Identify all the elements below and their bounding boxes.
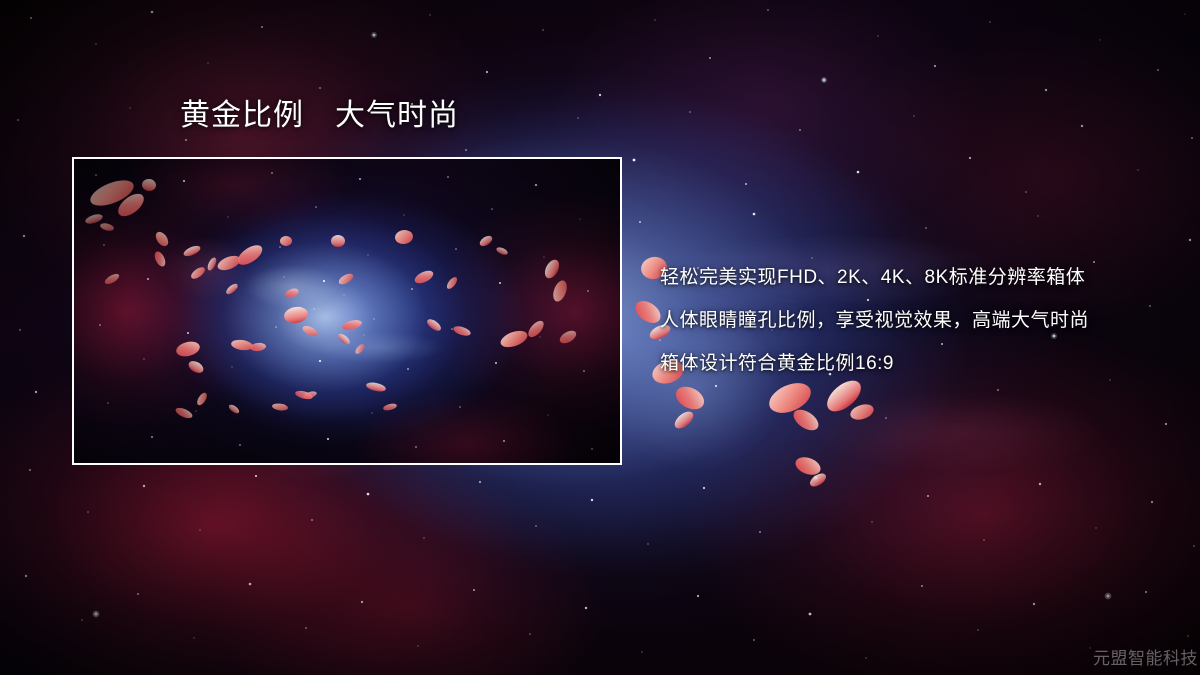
body-line-2: 人体眼睛瞳孔比例，享受视觉效果，高端大气时尚 xyxy=(660,299,1180,342)
slide-canvas: 黄金比例 大气时尚 xyxy=(0,0,1200,675)
body-text-block: 轻松完美实现FHD、2K、4K、8K标准分辨率箱体 人体眼睛瞳孔比例，享受视觉效… xyxy=(660,256,1180,385)
body-line-1: 轻松完美实现FHD、2K、4K、8K标准分辨率箱体 xyxy=(660,256,1180,299)
body-line-3: 箱体设计符合黄金比例16:9 xyxy=(660,342,1180,385)
watermark: 元盟智能科技 xyxy=(1093,650,1198,667)
